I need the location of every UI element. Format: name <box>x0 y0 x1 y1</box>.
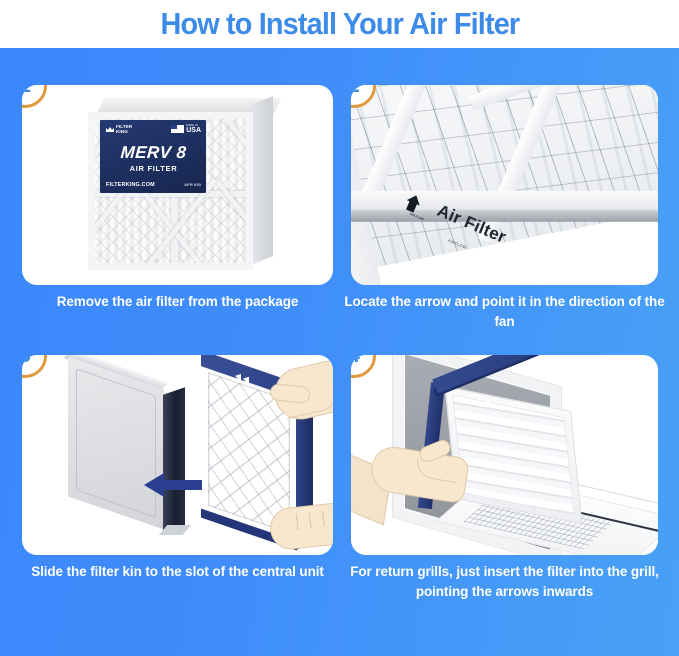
apr-rating-text: APR 650 <box>184 182 201 187</box>
step-1-illustration: FILTER KING MADE IN USA <box>22 85 333 285</box>
step-2-card: AIR FLOW Air Filter AIRFLOW 2 <box>351 85 658 285</box>
made-in-usa-badge: MADE IN USA <box>171 124 201 135</box>
label-top-row: FILTER KING MADE IN USA <box>106 124 201 135</box>
infographic-page: How to Install Your Air Filter <box>0 0 679 656</box>
made-in-usa-text: MADE IN USA <box>186 124 201 135</box>
label-subtitle: AIR FILTER <box>106 164 201 173</box>
steps-background: FILTER KING MADE IN USA <box>0 48 679 656</box>
us-flag-icon <box>171 125 184 133</box>
merv-rating: MERV 8 <box>105 143 201 163</box>
step-3-illustration <box>22 355 333 555</box>
step-caption-4: For return grills, just insert the filte… <box>341 562 668 602</box>
filter-frame-edge <box>351 210 658 222</box>
step-number-2: 2 <box>351 85 360 96</box>
step-panel-4: 4 For return grills, just insert the fil… <box>351 355 658 555</box>
slide-direction-arrow-icon <box>144 473 202 497</box>
step-number-4: 4 <box>351 355 360 366</box>
arrow-glyph <box>235 371 241 381</box>
brand-name: FILTER KING <box>116 124 132 134</box>
arrow-glyph <box>243 374 249 384</box>
crown-icon <box>106 125 114 133</box>
arrow-shaft <box>162 480 202 490</box>
louver-slats <box>452 394 574 515</box>
step-number-1: 1 <box>22 85 31 96</box>
step-panel-2: AIR FLOW Air Filter AIRFLOW 2 Locate the… <box>351 85 658 285</box>
step-2-illustration: AIR FLOW Air Filter AIRFLOW <box>351 85 658 285</box>
filter-side-edge <box>251 96 273 265</box>
step-3-card: 3 <box>22 355 333 555</box>
step-panel-3: 3 Slide the filter kin to the slot of th… <box>22 355 333 555</box>
step-4-card: 4 <box>351 355 658 555</box>
website-text: FILTERKING.COM <box>106 182 155 188</box>
filter-corner-photo: AIR FLOW Air Filter AIRFLOW <box>351 85 658 285</box>
filter-king-logo: FILTER KING <box>106 124 132 134</box>
arrow-head <box>144 473 164 497</box>
page-title: How to Install Your Air Filter <box>160 6 519 42</box>
steps-grid: FILTER KING MADE IN USA <box>0 48 679 656</box>
step-caption-2: Locate the arrow and point it in the dir… <box>341 292 668 332</box>
title-band: How to Install Your Air Filter <box>0 0 679 48</box>
step-1-card: FILTER KING MADE IN USA <box>22 85 333 285</box>
step-4-illustration <box>351 355 658 555</box>
central-unit-slot <box>163 387 185 535</box>
product-label: FILTER KING MADE IN USA <box>100 120 206 193</box>
label-bottom-row: FILTERKING.COM APR 650 <box>106 182 201 188</box>
step-number-3: 3 <box>22 355 31 366</box>
merv8-filter-photo: FILTER KING MADE IN USA <box>88 98 273 270</box>
step-caption-1: Remove the air filter from the package <box>12 292 343 312</box>
step-panel-1: FILTER KING MADE IN USA <box>22 85 333 285</box>
step-caption-3: Slide the filter kin to the slot of the … <box>12 562 343 582</box>
